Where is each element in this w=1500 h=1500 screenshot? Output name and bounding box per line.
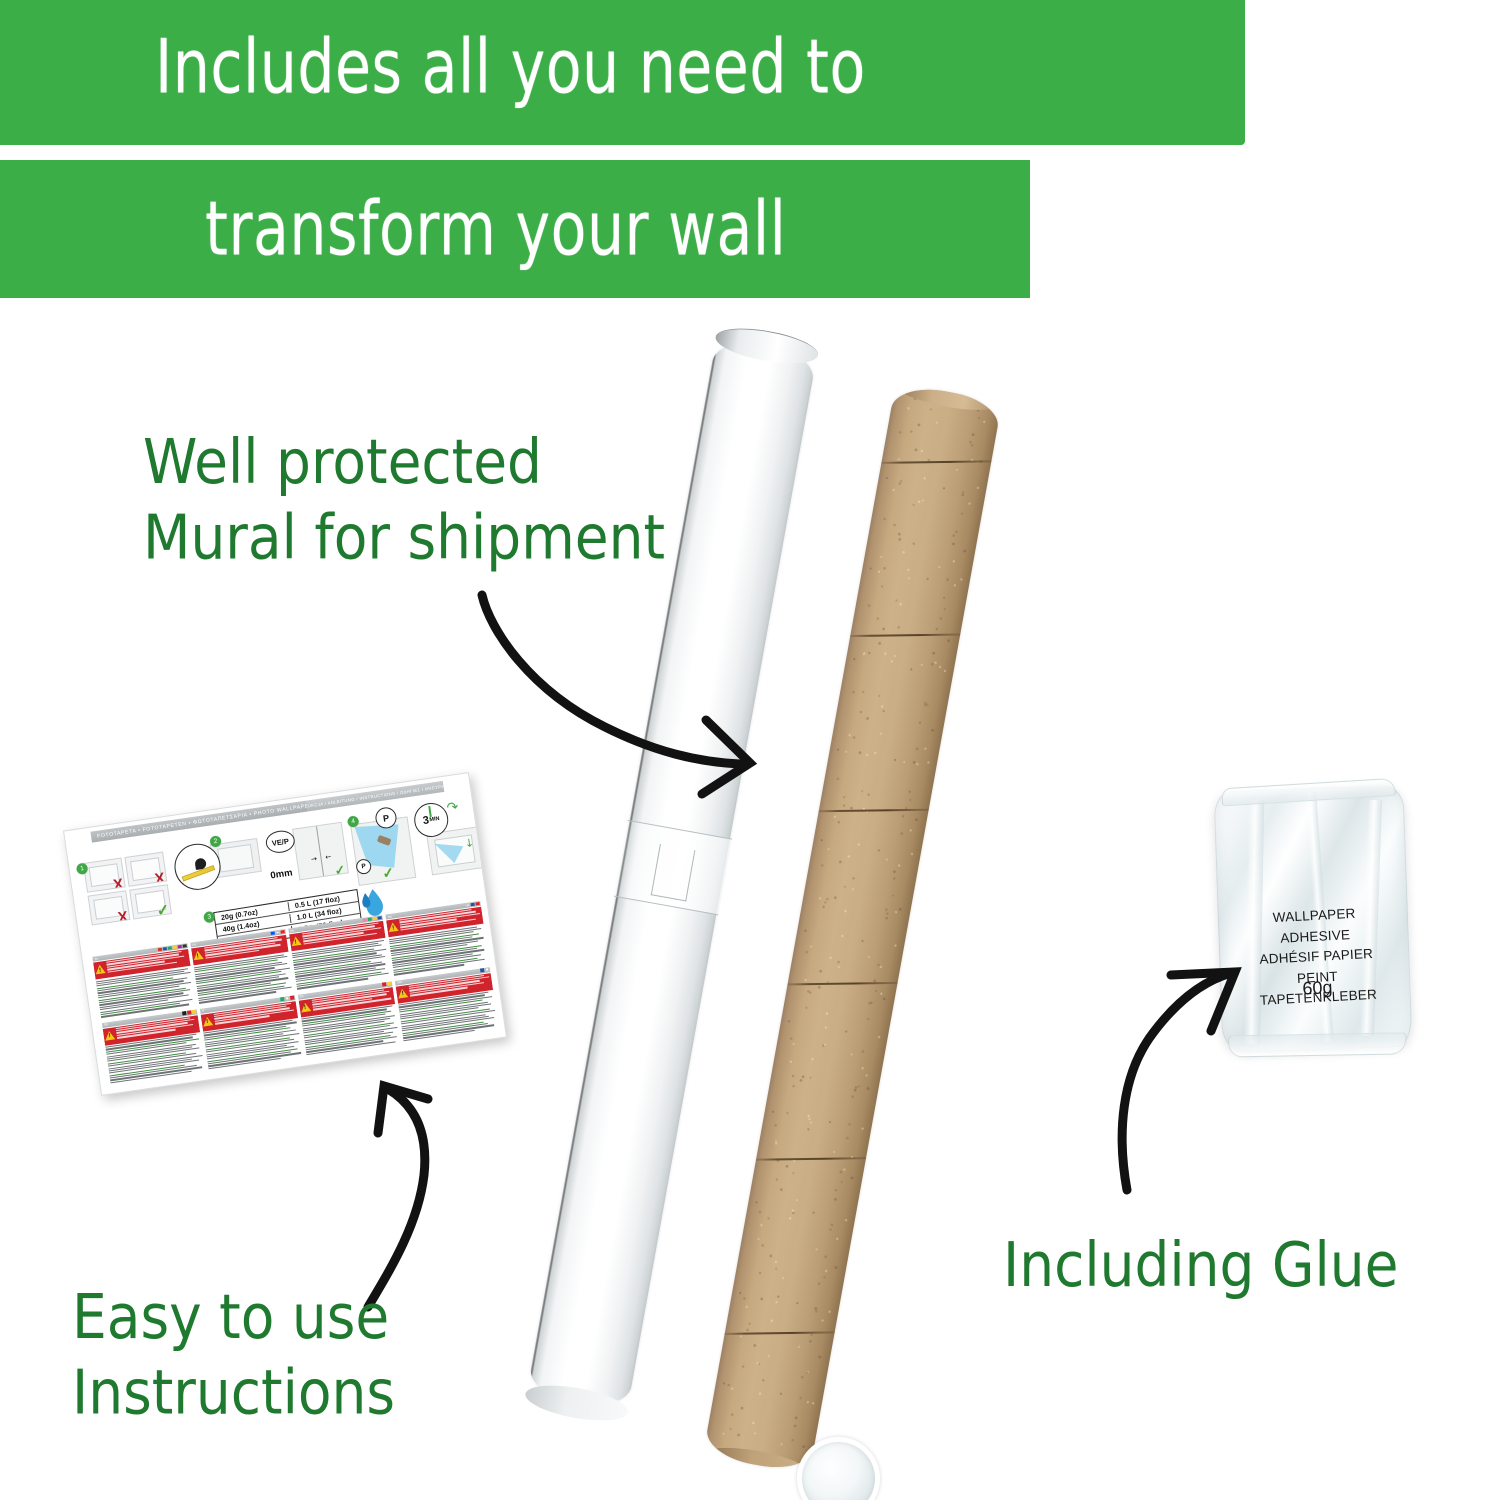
headline-banner-primary: Includes all you need to (0, 0, 1245, 145)
lang-column: RU (385, 901, 489, 978)
picto-seam-gap: → ← ✓ (292, 822, 349, 881)
warning-triangle-icon (104, 1030, 115, 1040)
lang-label: GR (396, 980, 402, 985)
picto-wall-bad-1: X (83, 858, 126, 893)
bubble-zero-gap: 0mm (270, 867, 294, 881)
lang-column: FR (190, 929, 294, 1006)
product-infographic: Includes all you need to transform your … (0, 0, 1500, 1500)
annotation-easy-instructions: Easy to use Instructions (72, 1280, 395, 1430)
lang-column: GR (395, 967, 499, 1044)
lang-label: DE (103, 1022, 109, 1027)
warning-triangle-icon (95, 964, 106, 974)
annotation-well-protected: Well protected Mural for shipment (143, 425, 665, 575)
lang-label: ES (298, 994, 304, 999)
warning-triangle-icon (397, 988, 408, 998)
lang-label: RU (387, 914, 393, 919)
picto-group-step-2: 2 (168, 824, 268, 914)
flag-strip (382, 982, 391, 987)
warning-triangle-icon (202, 1016, 213, 1026)
bubble-vep: VE/P (264, 829, 296, 855)
warning-triangle-icon (192, 950, 203, 960)
mark-wrong: X (117, 909, 129, 925)
mark-right: ✓ (156, 902, 171, 919)
headline-banner-secondary: transform your wall (0, 160, 1030, 298)
warning-triangle-icon (388, 922, 399, 932)
lang-column: DE (102, 1009, 206, 1086)
picto-wall-bad-2: X (124, 852, 167, 887)
lang-label: PL (93, 956, 98, 961)
white-tube-top-opening (713, 322, 821, 370)
headline-line-2: transform your wall (205, 192, 786, 266)
picto-group-gap: VE/P → ← ✓ 0mm (261, 812, 353, 901)
lang-label: FR (191, 942, 197, 947)
instruction-sheet: FOTOTAPETA • FOTOTAPETEN • ΦΩΤΟΤΑΠΕΤΣΑΡΙ… (63, 772, 507, 1096)
arrow-to-white-tube-icon (430, 575, 830, 805)
mark-right: ✓ (334, 863, 347, 877)
lang-column: IT (199, 995, 303, 1072)
warning-triangle-icon (300, 1002, 311, 1012)
lang-column: PL (92, 943, 196, 1020)
flag-strip (480, 968, 489, 973)
picto-group-step-1: 1 X X X ✓ (77, 837, 175, 927)
picto-wall-bad-3: X (88, 890, 131, 925)
lang-column: ES (297, 981, 401, 1058)
headline-line-1: Includes all you need to (155, 30, 866, 104)
lang-column: EN (288, 915, 392, 992)
warning-triangle-icon (290, 936, 301, 946)
white-tube-bottom-end (523, 1379, 631, 1427)
picto-wall-good: ✓ (129, 884, 172, 919)
arrow-to-glue-packet-icon (1055, 935, 1285, 1195)
annotation-including-glue: Including Glue (1003, 1228, 1399, 1303)
picto-group-soak-time: 3MIN ↷ ↓ (411, 794, 474, 879)
picto-group-step-4: 4 ✓ P P (346, 802, 418, 888)
lang-label: IT (201, 1008, 205, 1012)
lang-label: EN (289, 928, 295, 933)
mark-right: ✓ (381, 865, 395, 881)
